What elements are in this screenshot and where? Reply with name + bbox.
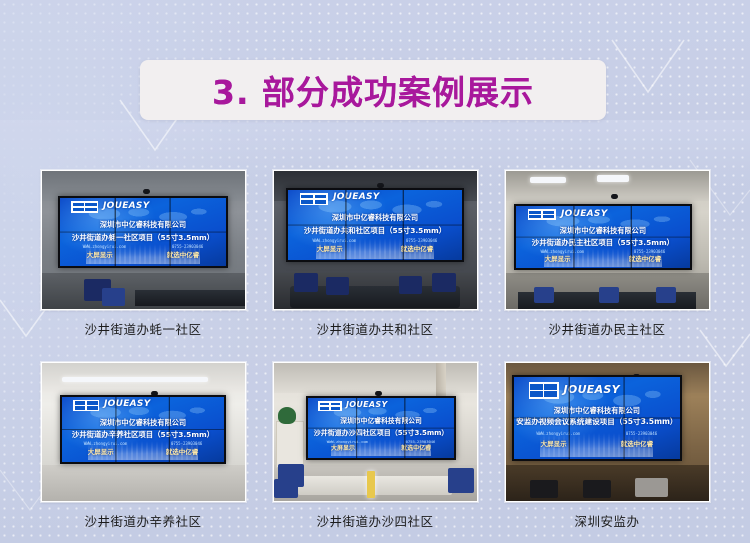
screen-project-line: 沙井街道办蚝一社区项目（55寸3.5mm） (60, 234, 227, 241)
screen-company-line: 深圳市中亿睿科技有限公司 (516, 227, 691, 234)
screen-slogan-right: 就选中亿睿 (621, 441, 654, 448)
screen-slogan-row: 大屏显示 就选中亿睿 (62, 449, 224, 456)
joueasy-logo-icon (71, 201, 98, 213)
room-scene: JOUEASY 深圳市中亿睿科技有限公司 沙井街道办蚝一社区项目（55寸3.5m… (42, 171, 245, 309)
case-item-3[interactable]: JOUEASY 深圳市中亿睿科技有限公司 沙井街道办民主社区项目（55寸3.5m… (505, 170, 710, 338)
case-photo-4[interactable]: JOUEASY 深圳市中亿睿科技有限公司 沙井街道办辛养社区项目（55寸3.5m… (41, 362, 246, 502)
screen-company-line: 深圳市中亿睿科技有限公司 (288, 214, 463, 221)
camera-icon (375, 391, 382, 396)
desk-object (367, 471, 375, 499)
video-wall-display: JOUEASY 深圳市中亿睿科技有限公司 安监办视频会议系统建设项目（55寸3.… (512, 375, 683, 461)
room-scene: JOUEASY 深圳市中亿睿科技有限公司 安监办视频会议系统建设项目（55寸3.… (506, 363, 709, 501)
case-photo-1[interactable]: JOUEASY 深圳市中亿睿科技有限公司 沙井街道办蚝一社区项目（55寸3.5m… (41, 170, 246, 310)
joueasy-logo-icon (318, 401, 341, 411)
brand-name: JOUEASY (104, 400, 151, 409)
camera-icon (143, 189, 150, 194)
screen-slogan-right: 就选中亿睿 (401, 246, 434, 253)
case-photo-6[interactable]: JOUEASY 深圳市中亿睿科技有限公司 安监办视频会议系统建设项目（55寸3.… (505, 362, 710, 502)
joueasy-logo-icon (73, 400, 99, 411)
screen-slogan-left: 大屏显示 (541, 441, 567, 448)
ceiling-lamp (62, 377, 208, 383)
page-title: 3. 部分成功案例展示 (212, 66, 534, 114)
screen-slogan-left: 大屏显示 (317, 246, 343, 253)
chair (326, 277, 348, 295)
screen-slogan-left: 大屏显示 (331, 446, 355, 452)
chair (534, 287, 554, 304)
chair (274, 479, 298, 498)
room-scene: JOUEASY 深圳市中亿睿科技有限公司 沙井街道办沙四社区项目（55寸3.5m… (274, 363, 477, 501)
screen-company-line: 深圳市中亿睿科技有限公司 (308, 418, 454, 425)
chair (448, 468, 474, 493)
case-photo-3[interactable]: JOUEASY 深圳市中亿睿科技有限公司 沙井街道办民主社区项目（55寸3.5m… (505, 170, 710, 310)
ceiling-lamp (530, 177, 567, 184)
chair (294, 273, 318, 292)
brand-name: JOUEASY (346, 401, 388, 409)
screen-slogan-row: 大屏显示 就选中亿睿 (516, 256, 691, 263)
case-photo-5[interactable]: JOUEASY 深圳市中亿睿科技有限公司 沙井街道办沙四社区项目（55寸3.5m… (273, 362, 478, 502)
case-row-1: JOUEASY 深圳市中亿睿科技有限公司 沙井街道办蚝一社区项目（55寸3.5m… (0, 170, 750, 338)
case-caption-1: 沙井街道办蚝一社区 (41, 319, 246, 338)
joueasy-logo-icon (529, 382, 559, 398)
screen-slogan-row: 大屏显示 就选中亿睿 (60, 252, 227, 259)
section-title-box: 3. 部分成功案例展示 (140, 60, 606, 120)
video-wall-display: JOUEASY 深圳市中亿睿科技有限公司 沙井街道办辛养社区项目（55寸3.5m… (60, 395, 226, 464)
screen-company-line: 深圳市中亿睿科技有限公司 (60, 221, 227, 228)
video-wall-display: JOUEASY 深圳市中亿睿科技有限公司 沙井街道办蚝一社区项目（55寸3.5m… (58, 196, 229, 268)
case-caption-5: 沙井街道办沙四社区 (273, 511, 478, 530)
brand-name: JOUEASY (103, 202, 150, 211)
case-row-2: JOUEASY 深圳市中亿睿科技有限公司 沙井街道办辛养社区项目（55寸3.5m… (0, 362, 750, 530)
table (135, 290, 246, 307)
screen-slogan-left: 大屏显示 (545, 256, 571, 263)
screen-slogan-right: 就选中亿睿 (629, 256, 662, 263)
floor (42, 465, 245, 501)
chair (656, 287, 676, 304)
chair (102, 288, 124, 306)
case-item-6[interactable]: JOUEASY 深圳市中亿睿科技有限公司 安监办视频会议系统建设项目（55寸3.… (505, 362, 710, 530)
case-caption-4: 沙井街道办辛养社区 (41, 511, 246, 530)
joueasy-logo-icon (300, 193, 328, 205)
chair (583, 480, 611, 498)
case-photo-2[interactable]: JOUEASY 深圳市中亿睿科技有限公司 沙井街道办共和社区项目（55寸3.5m… (273, 170, 478, 310)
case-item-1[interactable]: JOUEASY 深圳市中亿睿科技有限公司 沙井街道办蚝一社区项目（55寸3.5m… (41, 170, 246, 338)
ceiling-lamp (597, 175, 629, 182)
case-item-5[interactable]: JOUEASY 深圳市中亿睿科技有限公司 沙井街道办沙四社区项目（55寸3.5m… (273, 362, 478, 530)
screen-slogan-row: 大屏显示 就选中亿睿 (308, 446, 454, 452)
screen-slogan-left: 大屏显示 (88, 449, 114, 456)
screen-project-line: 沙井街道办民主社区项目（55寸3.5mm） (516, 239, 691, 246)
video-wall-display: JOUEASY 深圳市中亿睿科技有限公司 沙井街道办沙四社区项目（55寸3.5m… (306, 396, 456, 459)
chair (530, 480, 558, 498)
chair (635, 478, 667, 497)
video-wall-display: JOUEASY 深圳市中亿睿科技有限公司 沙井街道办民主社区项目（55寸3.5m… (514, 204, 693, 270)
case-caption-2: 沙井街道办共和社区 (273, 319, 478, 338)
screen-project-line: 沙井街道办沙四社区项目（55寸3.5mm） (308, 430, 454, 437)
screen-project-line: 安监办视频会议系统建设项目（55寸3.5mm） (514, 418, 681, 426)
screen-slogan-right: 就选中亿睿 (167, 252, 200, 259)
conference-table (298, 476, 452, 495)
brand-name: JOUEASY (333, 193, 380, 202)
joueasy-logo-icon (528, 209, 556, 220)
case-caption-6: 深圳安监办 (505, 511, 710, 530)
screen-project-line: 沙井街道办共和社区项目（55寸3.5mm） (288, 227, 463, 234)
video-wall-display: JOUEASY 深圳市中亿睿科技有限公司 沙井街道办共和社区项目（55寸3.5m… (286, 188, 465, 263)
plant (278, 407, 296, 424)
chair (432, 273, 456, 292)
screen-slogan-row: 大屏显示 就选中亿睿 (288, 246, 463, 253)
screen-slogan-left: 大屏显示 (87, 252, 113, 259)
bookshelf (276, 421, 304, 468)
case-item-4[interactable]: JOUEASY 深圳市中亿睿科技有限公司 沙井街道办辛养社区项目（55寸3.5m… (41, 362, 246, 530)
chair (399, 276, 421, 294)
screen-project-line: 沙井街道办辛养社区项目（55寸3.5mm） (62, 431, 224, 438)
case-item-2[interactable]: JOUEASY 深圳市中亿睿科技有限公司 沙井街道办共和社区项目（55寸3.5m… (273, 170, 478, 338)
screen-slogan-row: 大屏显示 就选中亿睿 (514, 441, 681, 448)
case-gallery: JOUEASY 深圳市中亿睿科技有限公司 沙井街道办蚝一社区项目（55寸3.5m… (0, 170, 750, 538)
chair (599, 287, 619, 304)
brand-name: JOUEASY (561, 210, 608, 219)
room-scene: JOUEASY 深圳市中亿睿科技有限公司 沙井街道办民主社区项目（55寸3.5m… (506, 171, 709, 309)
screen-slogan-right: 就选中亿睿 (401, 446, 431, 452)
ceiling (274, 363, 477, 393)
screen-company-line: 深圳市中亿睿科技有限公司 (514, 407, 681, 414)
case-caption-3: 沙井街道办民主社区 (505, 319, 710, 338)
room-scene: JOUEASY 深圳市中亿睿科技有限公司 沙井街道办共和社区项目（55寸3.5m… (274, 171, 477, 309)
brand-name: JOUEASY (564, 384, 620, 395)
screen-company-line: 深圳市中亿睿科技有限公司 (62, 419, 224, 426)
room-scene: JOUEASY 深圳市中亿睿科技有限公司 沙井街道办辛养社区项目（55寸3.5m… (42, 363, 245, 501)
screen-slogan-right: 就选中亿睿 (166, 449, 199, 456)
